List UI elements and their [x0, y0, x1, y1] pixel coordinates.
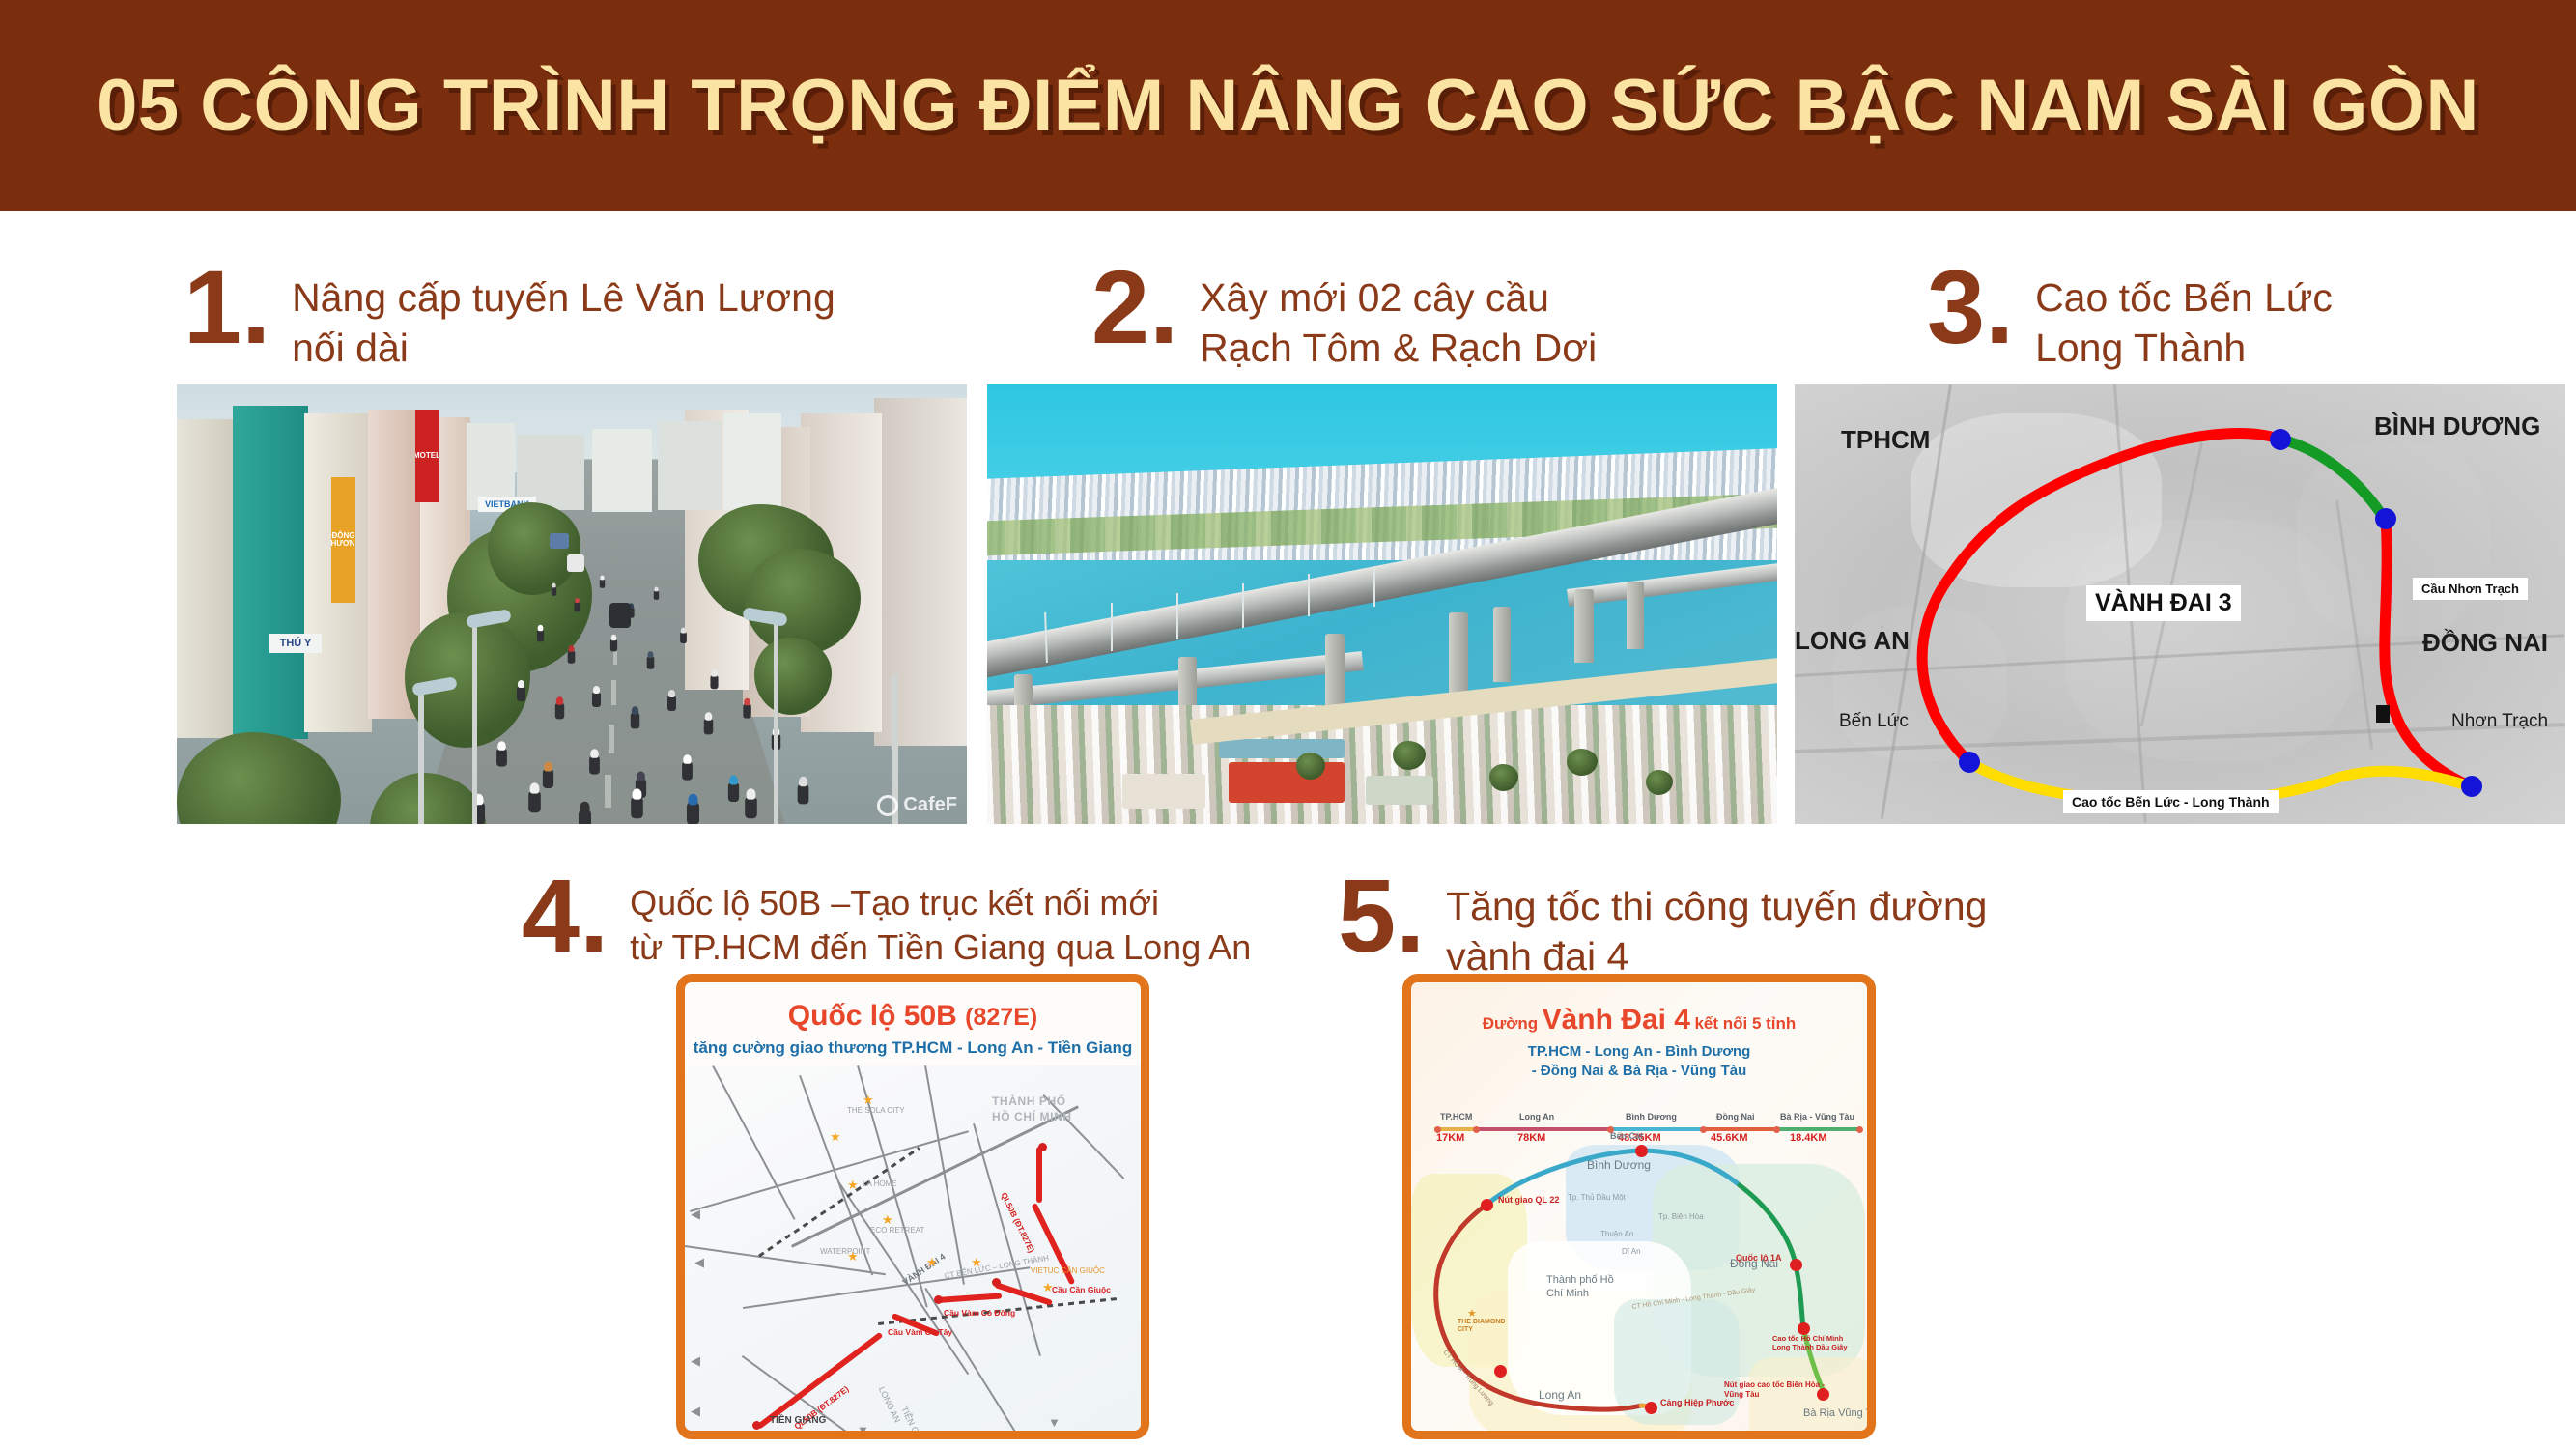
map-label-binh-duong: BÌNH DƯƠNG	[2374, 412, 2540, 441]
poster-5-title-tail: kết nối 5 tỉnh	[1694, 1014, 1796, 1033]
poster-5-subtitle-line2: - Đồng Nai & Bà Rịa - Vũng Tàu	[1411, 1062, 1867, 1081]
motorbike	[610, 639, 617, 652]
photo-building	[723, 413, 781, 510]
card-2-title-line2: Rạch Tôm & Rạch Dơi	[1200, 323, 1597, 373]
arrow-icon: ▼	[1048, 1415, 1061, 1430]
label-cau-vam-co-tay: Cầu Vàm Cỏ Tây	[888, 1328, 952, 1338]
watermark-text: CafeF	[903, 794, 957, 816]
lane-marking	[609, 724, 614, 753]
motorbike	[600, 579, 605, 588]
poster-4-title: Quốc lộ 50B (827E)	[685, 1000, 1141, 1033]
star-icon: ★	[847, 1178, 859, 1193]
segment-long-an	[1475, 1127, 1610, 1131]
bridge-pier	[1627, 582, 1644, 649]
map-label-nhon-trach: Nhơn Trạch	[2451, 711, 2548, 732]
motorbike	[543, 769, 553, 788]
card-1-heading: 1. Nâng cấp tuyến Lê Văn Lương nối dài	[184, 259, 835, 374]
car	[609, 603, 631, 628]
segment-label-long-an: Long An	[1519, 1112, 1554, 1122]
card-5-poster: Đường Vành Đai 4 kết nối 5 tỉnh TP.HCM -…	[1402, 974, 1876, 1439]
bridge-lamp	[1111, 603, 1113, 651]
segment-label-binh-duong: Bình Dương	[1626, 1112, 1677, 1122]
node-nut-giao-ql22	[1481, 1199, 1493, 1211]
route-ql50b	[1036, 1147, 1042, 1203]
poster-4-title-main: Quốc lộ 50B	[788, 1000, 957, 1032]
motorbike	[710, 675, 718, 689]
map-node-blue	[1959, 752, 1980, 773]
page-title: 05 CÔNG TRÌNH TRỌNG ĐIỂM NÂNG CAO SỨC BẬ…	[97, 64, 2479, 148]
map-chip-cao-toc: Cao tốc Bến Lức - Long Thành	[2063, 790, 2279, 813]
photo-building	[658, 421, 722, 510]
photo-building	[874, 398, 967, 746]
motorbike	[680, 632, 687, 643]
render-building-roof	[1122, 774, 1205, 809]
segment-node	[1856, 1126, 1863, 1133]
star-icon: ★	[971, 1255, 982, 1270]
infographic-page: 05 CÔNG TRÌNH TRỌNG ĐIỂM NÂNG CAO SỨC BẬ…	[0, 0, 2576, 1449]
segment-ba-ria	[1776, 1127, 1861, 1131]
card-1-title-line2: nối dài	[292, 323, 835, 373]
poster-4-map: THÀNH PHỐ HỒ CHÍ MINH VÀNH ĐAI 4 LONG AN…	[685, 1065, 1141, 1431]
route-node	[934, 1295, 943, 1304]
arrow-icon: ◀	[691, 1353, 700, 1369]
card-2-title-line1: Xây mới 02 cây cầu	[1200, 272, 1597, 323]
label-ql50b-north: QL50B (ĐT.827E)	[999, 1191, 1036, 1254]
street-lamp-pole	[472, 616, 477, 824]
label-nut-giao-ql22: Nút giao QL 22	[1498, 1195, 1559, 1206]
arrow-icon: ◀	[691, 1404, 700, 1419]
card-3-map: TPHCM BÌNH DƯƠNG LONG AN ĐỒNG NAI Bến Lứ…	[1795, 384, 2565, 824]
motorbike	[687, 802, 699, 824]
label-tien-giang-endpoint: TIỀN GIANG	[770, 1415, 826, 1427]
map-label-eco-retreat: ECO RETREAT	[870, 1226, 924, 1235]
motorbike	[654, 590, 659, 600]
map-chip-vanh-dai-3: VÀNH ĐAI 3	[2086, 585, 2241, 621]
label-nut-giao-bien-hoa-vt: Nút giao cao tốc Biên Hòa - Vũng Tàu	[1724, 1380, 1828, 1399]
segment-label-tphcm: TP.HCM	[1440, 1112, 1472, 1122]
bridge-marker	[2376, 705, 2390, 723]
motorbike	[745, 797, 757, 818]
card-3-title: Cao tốc Bến Lức Long Thành	[2035, 259, 2333, 374]
segment-distance-dong-nai: 45.6KM	[1711, 1132, 1748, 1144]
motorbike	[682, 761, 693, 780]
segment-label-ba-ria: Bà Rịa - Vũng Tàu	[1780, 1112, 1854, 1122]
photo-building	[592, 429, 652, 512]
map-label-long-an: Long An	[1539, 1388, 1581, 1403]
map-label-long-an: LONG AN	[1795, 626, 1910, 656]
arrow-icon: ▼	[857, 1423, 869, 1431]
label-the-diamond-city: THE DIAMOND CITY	[1458, 1319, 1506, 1335]
card-2-number: 2.	[1091, 259, 1178, 355]
poster-5-map: Bến Cát Nút giao QL 22 Quốc lộ 1A Cao tố…	[1411, 1145, 1867, 1431]
card-3-title-line2: Long Thành	[2035, 323, 2333, 373]
card-1-number: 1.	[184, 259, 270, 355]
card-4-title-line1: Quốc lộ 50B –Tạo trục kết nối mới	[630, 881, 1251, 925]
card-3-heading: 3. Cao tốc Bến Lức Long Thành	[1927, 259, 2333, 374]
bridge-lamp	[1242, 583, 1244, 628]
card-4-title: Quốc lộ 50B –Tạo trục kết nối mới từ TP.…	[630, 867, 1251, 970]
star-icon: ★	[926, 1255, 938, 1270]
distance-bar: TP.HCM Long An Bình Dương Đồng Nai Bà Rị…	[1434, 1114, 1861, 1143]
bridge-lamp	[1308, 574, 1310, 616]
map-label-ba-ria-vung-tau: Bà Rịa Vũng Tàu	[1803, 1407, 1867, 1421]
route-node	[752, 1421, 761, 1430]
motorbike	[728, 782, 739, 802]
motorbike	[537, 630, 544, 642]
segment-distance-long-an: 78KM	[1517, 1132, 1545, 1144]
map-label-ho-chi-minh: HỒ CHÍ MINH	[992, 1110, 1072, 1123]
segment-distance-ba-ria: 18.4KM	[1790, 1132, 1827, 1144]
map-label-thanh-pho-hcm: Thành phố Hồ Chí Minh	[1546, 1274, 1624, 1301]
motorbike	[647, 656, 655, 669]
bridge-lamp	[1373, 566, 1375, 607]
card-1-title-line1: Nâng cấp tuyến Lê Văn Lương	[292, 272, 835, 323]
photo-tree	[177, 732, 341, 824]
card-5-number: 5.	[1338, 867, 1425, 963]
segment-label-dong-nai: Đồng Nai	[1716, 1112, 1755, 1122]
map-node-blue	[2270, 429, 2291, 450]
map-label-di-an: Dĩ An	[1622, 1247, 1641, 1256]
card-4-poster: Quốc lộ 50B (827E) tăng cường giao thươn…	[676, 974, 1149, 1439]
motorbike	[743, 703, 751, 718]
map-label-tphcm: TPHCM	[1841, 425, 1930, 455]
bridge-pier	[1574, 589, 1594, 663]
lane-marking	[605, 775, 611, 808]
render-building-roof	[1219, 739, 1345, 758]
bridge-pier	[1449, 612, 1468, 694]
poster-5-title-big: Vành Đai 4	[1543, 1004, 1690, 1036]
map-label-thuan-an: Thuận An	[1600, 1230, 1633, 1238]
map-label-dong-nai: Đồng Nai	[1730, 1257, 1778, 1271]
card-3-title-line1: Cao tốc Bến Lức	[2035, 272, 2333, 323]
route-ql50b	[938, 1293, 1002, 1303]
motorbike	[552, 586, 556, 596]
map-label-bien-hoa: Tp. Biên Hòa	[1658, 1212, 1704, 1221]
poster-4-subtitle: tăng cường giao thương TP.HCM - Long An …	[685, 1038, 1141, 1058]
route-node	[1038, 1143, 1047, 1151]
header-banner: 05 CÔNG TRÌNH TRỌNG ĐIỂM NÂNG CAO SỨC BẬ…	[0, 0, 2576, 211]
motorbike	[589, 755, 600, 774]
card-1-street-photo: MOTEL ĐÔNG PHƯƠNG THÚ Y THÚ Y VIETBANK	[177, 384, 967, 824]
motorbike	[517, 686, 525, 701]
street-lamp-pole	[418, 684, 424, 824]
card-3-number: 3.	[1927, 259, 2014, 355]
route-green	[2278, 439, 2384, 518]
lane-marking	[611, 680, 616, 705]
star-icon: ★	[830, 1129, 841, 1145]
label-ben-cat: Bến Cát	[1610, 1131, 1643, 1141]
render-sportsfield	[1229, 762, 1345, 803]
segment-dong-nai	[1703, 1127, 1776, 1131]
motorbike	[631, 797, 643, 818]
card-2-heading: 2. Xây mới 02 cây cầu Rạch Tôm & Rạch Dơ…	[1091, 259, 1597, 374]
map-label-the-sola-city: THE SOLA CITY	[847, 1106, 905, 1115]
map-label-tien-giang: TIỀN GIANG	[899, 1405, 930, 1431]
label-cao-toc-hcm-lt-dg: Cao tốc Hồ Chí Minh Long Thành Dầu Giây	[1772, 1334, 1848, 1351]
map-node-blue	[2461, 776, 2482, 797]
shop-sign-dongphuong: ĐÔNG PHƯƠNG	[331, 477, 355, 603]
motorbike	[704, 719, 713, 735]
map-label-thanh-pho: THÀNH PHỐ	[992, 1094, 1066, 1108]
motorbike	[631, 713, 639, 729]
map-label-ben-luc: Bến Lức	[1839, 711, 1909, 732]
motorbike	[579, 810, 591, 824]
label-cang-hiep-phuoc: Cảng Hiệp Phước	[1660, 1398, 1734, 1408]
motorbike	[592, 692, 601, 707]
label-cau-can-giuoc: Cầu Cần Giuộc	[1052, 1286, 1111, 1295]
car	[567, 554, 584, 572]
poster-5-inner: Đường Vành Đai 4 kết nối 5 tỉnh TP.HCM -…	[1411, 982, 1867, 1431]
segment-node	[1773, 1126, 1780, 1133]
node-ct-trung-luong	[1494, 1365, 1507, 1378]
cafef-watermark: CafeF	[877, 794, 957, 816]
map-chip-cau-nhon-trach: Cầu Nhơn Trạch	[2413, 578, 2528, 600]
label-cau-vam-co-dong: Cầu Vàm Cỏ Đông	[944, 1309, 1015, 1319]
bridge-lamp	[1176, 593, 1178, 639]
arrow-icon: ◀	[694, 1255, 704, 1270]
street-lamp-pole	[774, 614, 778, 824]
map-label-la-home: LA HOME	[863, 1179, 897, 1188]
map-label-long-an: LONG AN	[877, 1385, 903, 1424]
photo-building	[177, 419, 237, 738]
card-5-title: Tăng tốc thi công tuyến đường vành đai 4	[1446, 867, 1987, 982]
map-label-binh-duong: Bình Dương	[1587, 1158, 1651, 1173]
map-label-vietuc: VIETUC CẦN GIUỘC	[1031, 1266, 1105, 1275]
motorbike	[568, 650, 576, 664]
card-5-title-line1: Tăng tốc thi công tuyến đường	[1446, 881, 1987, 931]
map-label-dong-nai: ĐỒNG NAI	[2422, 628, 2548, 658]
card-1-title: Nâng cấp tuyến Lê Văn Lương nối dài	[292, 259, 835, 374]
node-quoc-lo-1a	[1790, 1259, 1802, 1271]
card-4-heading: 4. Quốc lộ 50B –Tạo trục kết nối mới từ …	[522, 867, 1251, 970]
shop-sign-thuy-1: THÚ Y	[269, 634, 322, 653]
segment-node	[1700, 1126, 1707, 1133]
photo-building	[233, 406, 308, 739]
motorbike	[555, 703, 564, 720]
bridge-pier	[1493, 607, 1511, 682]
segment-distance-tphcm: 17KM	[1436, 1132, 1464, 1144]
arrow-icon: ◀	[691, 1207, 700, 1222]
bus	[550, 533, 569, 549]
motorbike	[798, 784, 809, 805]
map-node-blue	[2375, 508, 2396, 529]
render-building-roof	[1366, 776, 1433, 805]
map-label-waterpoint: WATERPOINT	[820, 1247, 870, 1256]
map-road	[712, 1065, 795, 1220]
motorbike	[496, 748, 507, 766]
map-road	[924, 1065, 965, 1285]
node-ben-cat	[1635, 1145, 1648, 1157]
card-2-bridge-render	[987, 384, 1777, 824]
route-node	[992, 1278, 1001, 1287]
poster-4-title-code: (827E)	[965, 1004, 1037, 1031]
motorbike	[667, 696, 676, 711]
poster-5-subtitle-line1: TP.HCM - Long An - Bình Dương	[1411, 1042, 1867, 1062]
poster-4-inner: Quốc lộ 50B (827E) tăng cường giao thươn…	[685, 982, 1141, 1431]
card-5-heading: 5. Tăng tốc thi công tuyến đường vành đa…	[1338, 867, 1987, 982]
motorbike	[528, 791, 541, 812]
card-4-number: 4.	[522, 867, 609, 963]
watermark-circle-icon	[877, 795, 898, 816]
motorbike	[575, 602, 580, 611]
map-label-thu-dau-mot: Tp. Thủ Dầu Một	[1568, 1193, 1626, 1202]
shop-sign-motel: MOTEL	[415, 410, 439, 502]
card-4-title-line2: từ TP.HCM đến Tiền Giang qua Long An	[630, 925, 1251, 970]
node-cang-hiep-phuoc	[1645, 1402, 1657, 1414]
poster-5-title: Đường Vành Đai 4 kết nối 5 tỉnh	[1411, 1004, 1867, 1037]
poster-5-title-lead: Đường	[1483, 1014, 1538, 1033]
segment-node	[1473, 1126, 1480, 1133]
card-2-title: Xây mới 02 cây cầu Rạch Tôm & Rạch Dơi	[1200, 259, 1597, 374]
